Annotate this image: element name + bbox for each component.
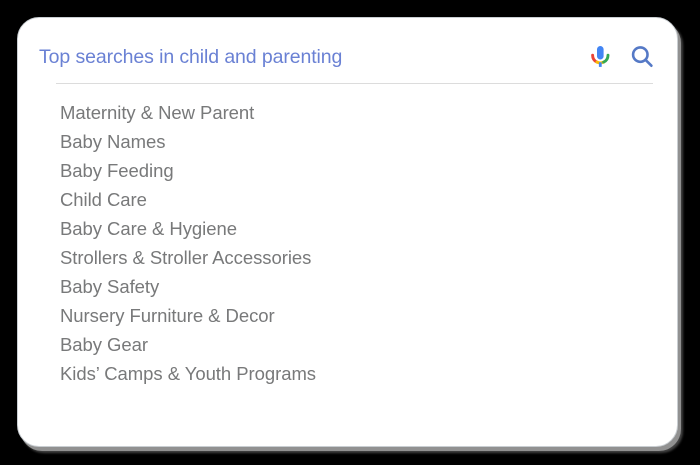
screen-background: Top searches in child and parenting xyxy=(0,0,700,465)
list-item[interactable]: Baby Safety xyxy=(60,272,656,301)
list-item[interactable]: Nursery Furniture & Decor xyxy=(60,301,656,330)
list-item[interactable]: Baby Feeding xyxy=(60,156,656,185)
list-item[interactable]: Baby Gear xyxy=(60,330,656,359)
list-item[interactable]: Child Care xyxy=(60,185,656,214)
header-divider xyxy=(56,83,653,84)
search-bar-actions xyxy=(587,42,658,72)
list-item[interactable]: Strollers & Stroller Accessories xyxy=(60,243,656,272)
suggestion-list: Maternity & New Parent Baby Names Baby F… xyxy=(60,98,656,388)
microphone-icon[interactable] xyxy=(587,42,613,72)
search-suggestions-card: Top searches in child and parenting xyxy=(17,17,678,447)
search-input[interactable]: Top searches in child and parenting xyxy=(39,44,587,70)
search-icon[interactable] xyxy=(628,43,656,71)
card-content: Top searches in child and parenting xyxy=(18,18,677,446)
list-item[interactable]: Kids’ Camps & Youth Programs xyxy=(60,359,656,388)
search-bar[interactable]: Top searches in child and parenting xyxy=(39,32,658,82)
list-item[interactable]: Baby Names xyxy=(60,127,656,156)
list-item[interactable]: Maternity & New Parent xyxy=(60,98,656,127)
list-item[interactable]: Baby Care & Hygiene xyxy=(60,214,656,243)
